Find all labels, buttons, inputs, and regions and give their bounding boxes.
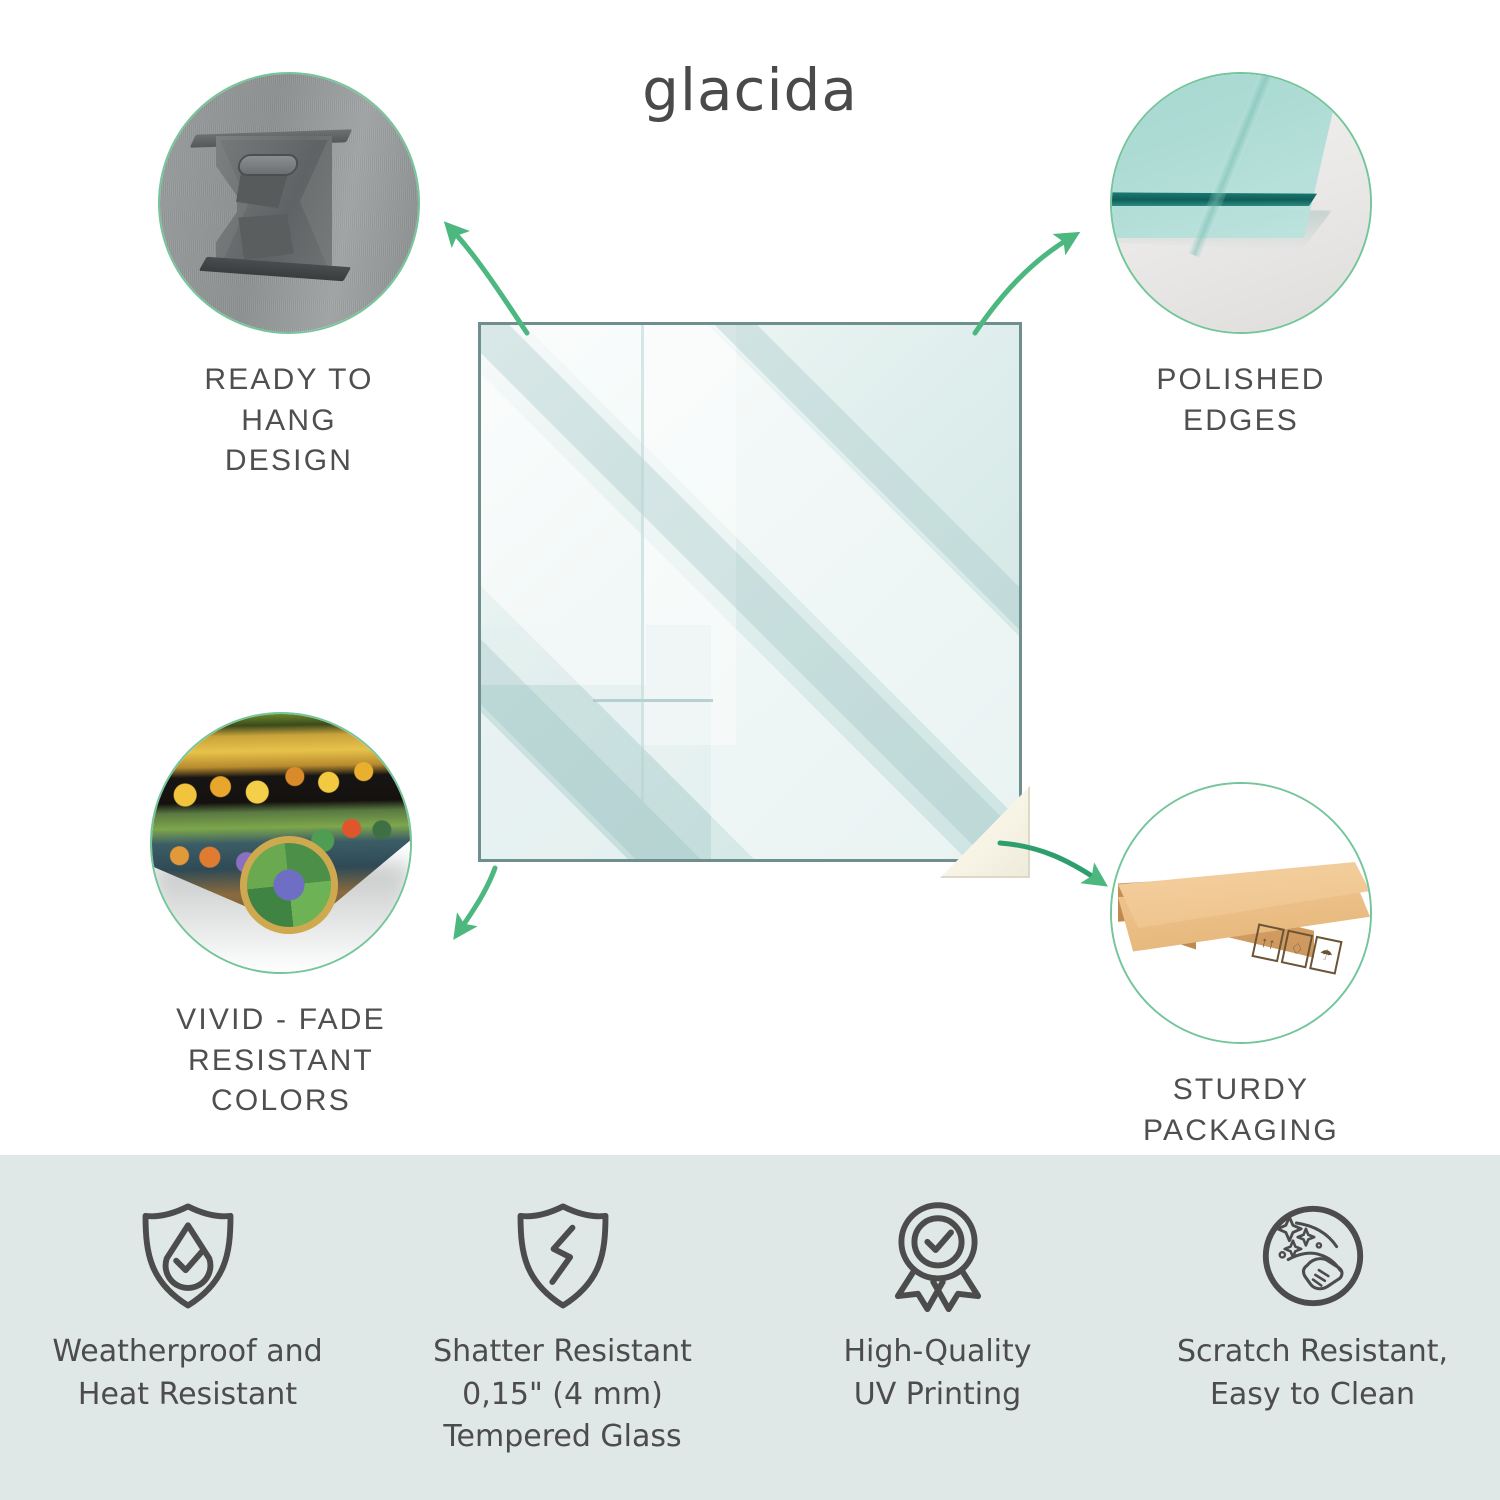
feature-image-packaging: ↑↑ ♢ ☂ (1110, 782, 1372, 1044)
benefit-shatter-resistant: Shatter Resistant 0,15" (4 mm) Tempered … (375, 1197, 750, 1459)
benefit-label-scratch-resistant: Scratch Resistant, Easy to Clean (1177, 1331, 1448, 1416)
feature-polished-edges: POLISHED EDGES (1110, 72, 1372, 441)
feature-image-hanging-bracket (158, 72, 420, 334)
feature-label-vivid-colors: VIVID - FADE RESISTANT COLORS (91, 1000, 471, 1122)
benefit-weatherproof: Weatherproof and Heat Resistant (0, 1197, 375, 1416)
fragile-glass-icon: ♢ (1280, 930, 1313, 969)
benefits-strip: Weatherproof and Heat Resistant Shatter … (0, 1155, 1500, 1500)
benefit-scratch-resistant: Scratch Resistant, Easy to Clean (1125, 1197, 1500, 1416)
polished-glass-edge-photo (1112, 74, 1370, 332)
hanging-bracket-photo (160, 74, 418, 332)
sparkle-hand-wipe-icon (1254, 1197, 1372, 1315)
benefit-label-shatter-resistant: Shatter Resistant 0,15" (4 mm) Tempered … (433, 1331, 692, 1459)
cardboard-box-photo: ↑↑ ♢ ☂ (1112, 784, 1370, 1042)
handling-symbols: ↑↑ ♢ ☂ (1251, 923, 1342, 974)
benefit-label-weatherproof: Weatherproof and Heat Resistant (52, 1331, 322, 1416)
shield-crack-icon (504, 1197, 622, 1315)
infographic-root: glacida READY TO HANG DESIGN (0, 0, 1500, 1500)
feature-label-polished-edges: POLISHED EDGES (1110, 360, 1372, 441)
arrow-to-polished-edges (975, 238, 1070, 333)
feature-sturdy-packaging: ↑↑ ♢ ☂ STURDY PACKAGING (1110, 782, 1372, 1151)
feature-image-stained-glass (150, 712, 412, 974)
tempered-glass-panel (478, 322, 1022, 862)
feature-image-polished-edge (1110, 72, 1372, 334)
feature-ready-to-hang: READY TO HANG DESIGN (158, 72, 420, 482)
shield-water-drop-check-icon (129, 1197, 247, 1315)
this-side-up-icon: ↑↑ (1251, 923, 1284, 962)
feature-label-ready-to-hang: READY TO HANG DESIGN (158, 360, 420, 482)
benefit-uv-printing: High-Quality UV Printing (750, 1197, 1125, 1416)
feature-vivid-colors: VIVID - FADE RESISTANT COLORS (91, 712, 471, 1122)
benefit-label-uv-printing: High-Quality UV Printing (843, 1331, 1031, 1416)
stained-glass-artwork-photo (152, 714, 410, 972)
keep-dry-icon: ☂ (1309, 936, 1342, 975)
award-ribbon-check-icon (879, 1197, 997, 1315)
feature-label-sturdy-packaging: STURDY PACKAGING (1110, 1070, 1372, 1151)
arrow-to-ready-to-hang (452, 230, 527, 333)
